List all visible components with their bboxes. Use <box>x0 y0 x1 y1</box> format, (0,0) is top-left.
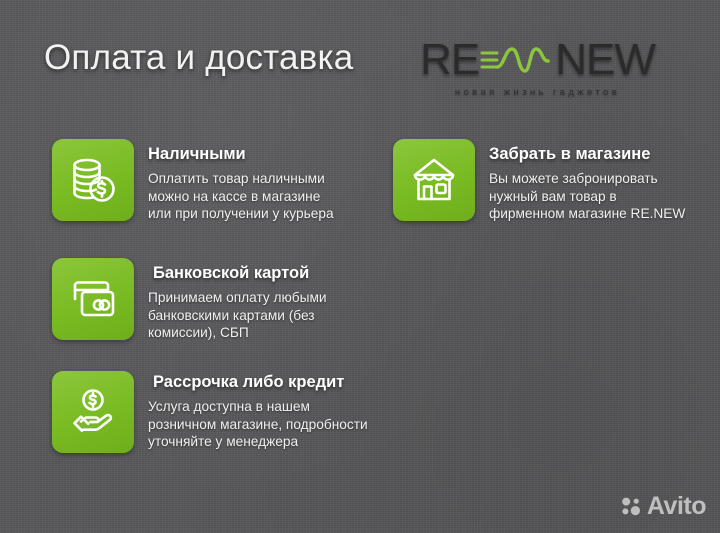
card-line: или при получении у курьера <box>148 205 334 223</box>
icon-tile-cash <box>52 139 134 221</box>
card-line: Оплатить товар наличными <box>148 170 334 188</box>
logo-word-right: NEW <box>555 38 655 82</box>
hand-holding-coin-icon <box>66 385 120 439</box>
card-line: можно на кассе в магазине <box>148 188 334 206</box>
card-title-bankcard: Банковской картой <box>153 264 327 283</box>
slide-root: Оплата и доставка RE NEW новая жизнь гад… <box>0 0 720 533</box>
page-title: Оплата и доставка <box>44 38 353 78</box>
card-body-cash: Наличными Оплатить товар наличными можно… <box>148 143 334 223</box>
card-body-pickup: Забрать в магазине Вы можете забронирова… <box>489 143 685 223</box>
icon-tile-bankcard <box>52 258 134 340</box>
card-text-credit: Услуга доступна в нашем розничном магази… <box>148 398 368 451</box>
card-text-bankcard: Принимаем оплату любыми банковскими карт… <box>148 289 327 342</box>
info-card-credit: Рассрочка либо кредит Услуга доступна в … <box>52 371 368 453</box>
avito-label: Avito <box>647 494 706 519</box>
storefront-icon <box>407 153 461 207</box>
coin-stack-dollar-icon <box>66 153 120 207</box>
logo-tagline: новая жизнь гаджетов <box>405 87 670 98</box>
card-line: розничном магазине, подробности <box>148 416 368 434</box>
brand-logo: RE NEW новая жизнь гаджетов <box>405 36 670 98</box>
info-card-pickup: Забрать в магазине Вы можете забронирова… <box>393 139 685 223</box>
card-body-bankcard: Банковской картой Принимаем оплату любым… <box>148 262 327 342</box>
credit-cards-icon <box>66 272 120 326</box>
card-text-pickup: Вы можете забронировать нужный вам товар… <box>489 170 685 223</box>
card-line: банковскими картами (без <box>148 307 327 325</box>
icon-tile-credit <box>52 371 134 453</box>
info-card-cash: Наличными Оплатить товар наличными можно… <box>52 139 334 223</box>
card-line: фирменном магазине RE.NEW <box>489 205 685 223</box>
card-line: Вы можете забронировать <box>489 170 685 188</box>
card-line: Услуга доступна в нашем <box>148 398 368 416</box>
card-body-credit: Рассрочка либо кредит Услуга доступна в … <box>148 371 368 451</box>
avito-dots-icon <box>620 496 642 518</box>
card-title-credit: Рассрочка либо кредит <box>153 373 368 392</box>
card-title-pickup: Забрать в магазине <box>489 145 685 164</box>
logo-word-left: RE <box>420 38 479 82</box>
logo-mark: RE NEW <box>405 36 670 84</box>
card-line: уточняйте у менеджера <box>148 433 368 451</box>
card-line: комиссии), СБП <box>148 324 327 342</box>
icon-tile-pickup <box>393 139 475 221</box>
card-text-cash: Оплатить товар наличными можно на кассе … <box>148 170 334 223</box>
card-line: нужный вам товар в <box>489 188 685 206</box>
card-line: Принимаем оплату любыми <box>148 289 327 307</box>
card-title-cash: Наличными <box>148 145 334 164</box>
green-squiggle-wave-icon <box>480 37 554 83</box>
info-card-bankcard: Банковской картой Принимаем оплату любым… <box>52 258 327 342</box>
avito-watermark: Avito <box>620 494 706 519</box>
